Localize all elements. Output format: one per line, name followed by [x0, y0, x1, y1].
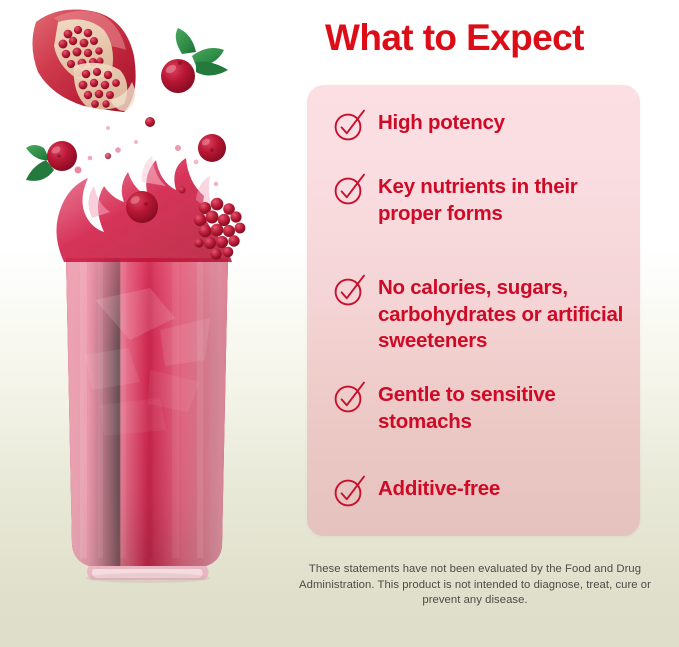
benefit-item-5: Additive-free [333, 473, 629, 508]
benefit-item-4: Gentle to sensitive stomachs [333, 379, 629, 435]
product-hero-image [0, 0, 310, 647]
promo-canvas: What to Expect High potency [0, 0, 679, 647]
benefit-label: Key nutrients in their proper forms [378, 171, 629, 227]
pomegranate-wedge [32, 10, 135, 112]
cranberry-floating-right [198, 134, 226, 162]
cranberry-with-leaves-left [26, 141, 77, 181]
benefit-item-1: High potency [333, 107, 629, 142]
benefit-label: Additive-free [378, 473, 500, 503]
check-circle-icon [333, 172, 367, 206]
fda-disclaimer: These statements have not been evaluated… [295, 562, 655, 609]
benefits-card: High potency Key nutrients in their prop… [307, 85, 640, 536]
benefit-label: Gentle to sensitive stomachs [378, 379, 629, 435]
check-circle-icon [333, 474, 367, 508]
cranberry-in-splash [126, 191, 158, 223]
check-circle-icon [333, 108, 367, 142]
benefit-label: High potency [378, 107, 505, 137]
benefit-item-2: Key nutrients in their proper forms [333, 171, 629, 227]
check-circle-icon [333, 273, 367, 307]
benefit-item-3: No calories, sugars, carbohydrates or ar… [333, 272, 629, 355]
check-circle-icon [333, 380, 367, 414]
cranberry-with-leaves-top [161, 28, 228, 93]
benefit-label: No calories, sugars, carbohydrates or ar… [378, 272, 629, 355]
page-title: What to Expect [325, 16, 665, 60]
content-column: What to Expect High potency [307, 0, 679, 647]
juice-glass [66, 258, 228, 583]
